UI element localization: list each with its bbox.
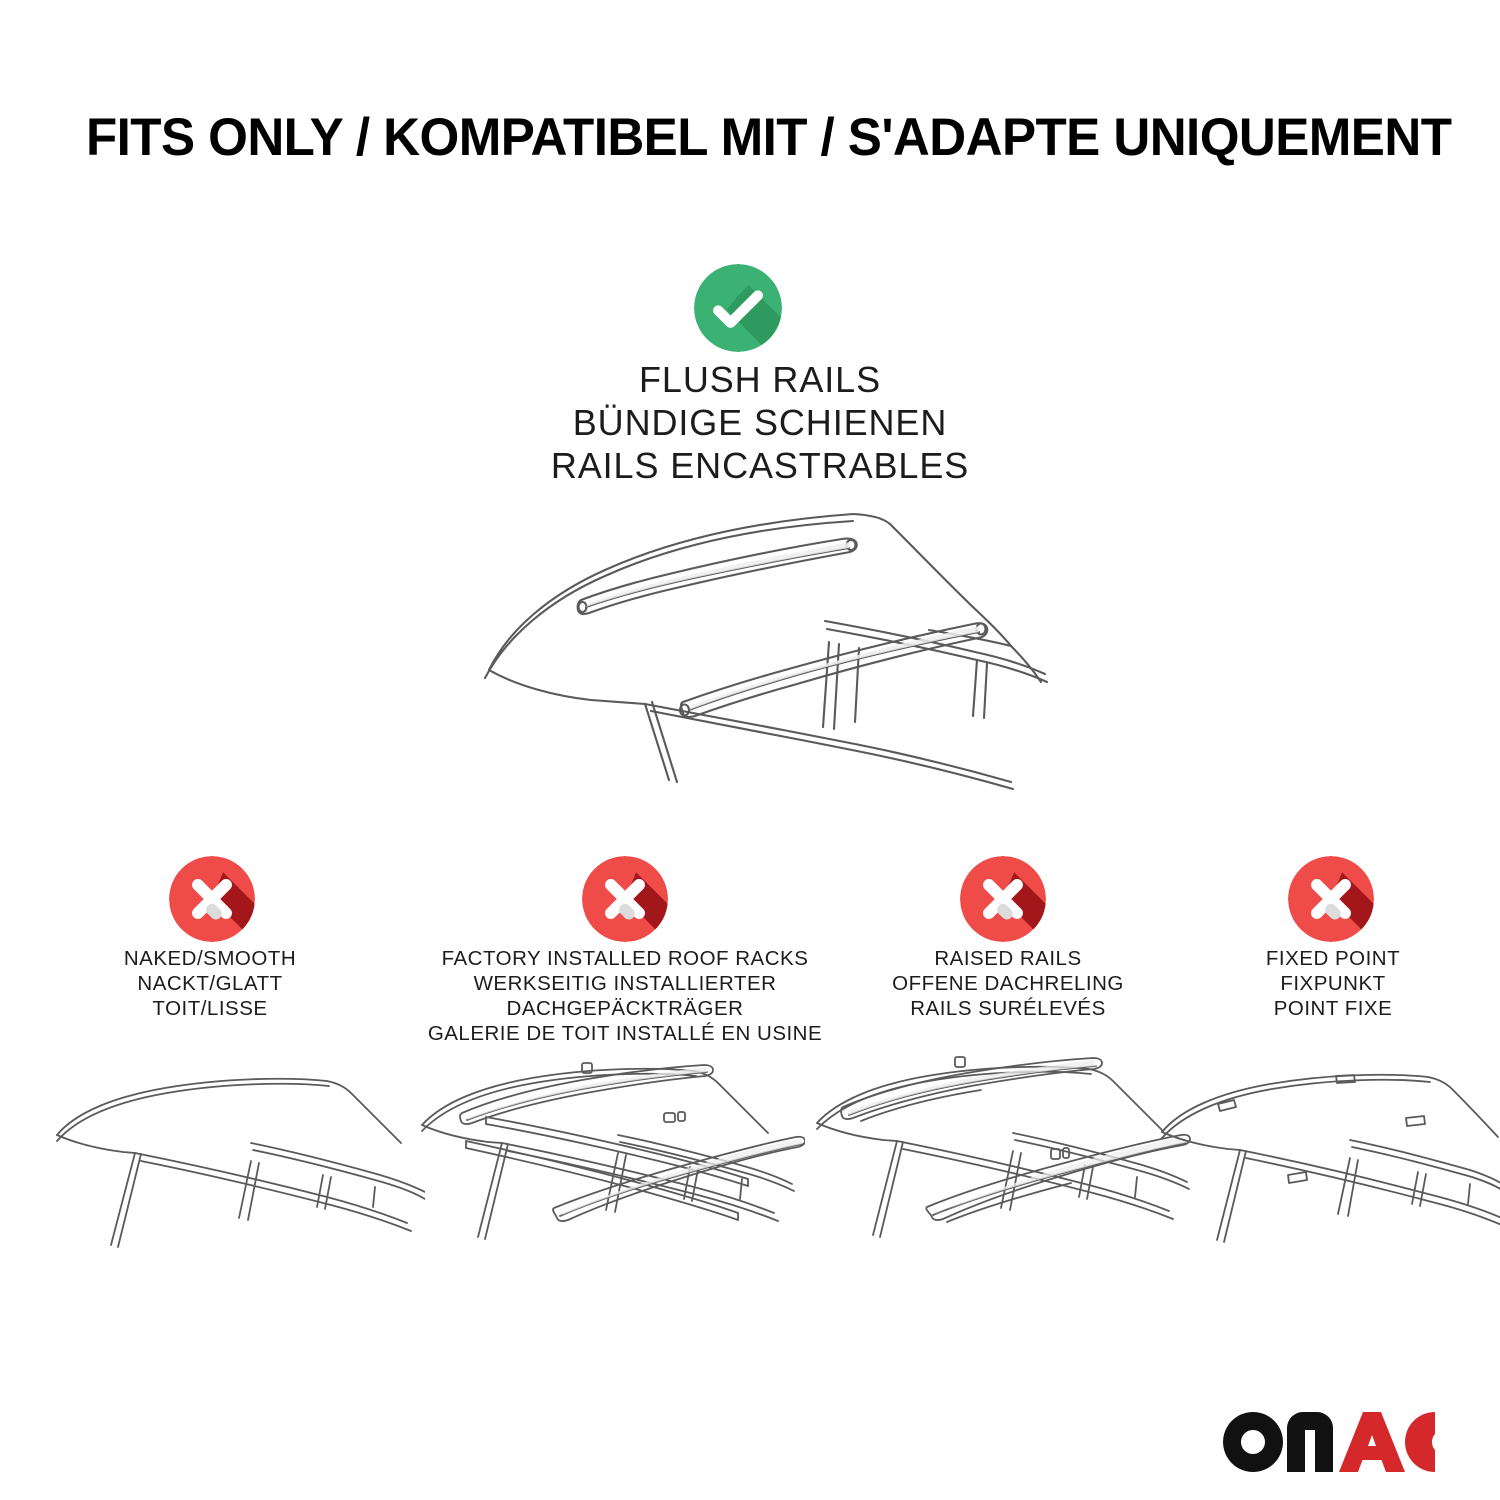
logo-letter-m bbox=[1287, 1412, 1333, 1472]
fitment-infographic: FITS ONLY / KOMPATIBEL MIT / S'ADAPTE UN… bbox=[0, 0, 1500, 1500]
caption-line: RAILS SURÉLEVÉS bbox=[838, 996, 1178, 1021]
logo-letter-a bbox=[1339, 1412, 1405, 1472]
incompatible-caption-fixed-point: FIXED POINT FIXPUNKT POINT FIXE bbox=[1178, 946, 1488, 1021]
car-roof-fixed-points-illustration bbox=[1160, 1050, 1500, 1290]
cross-circle-icon bbox=[960, 856, 1046, 942]
caption-line: POINT FIXE bbox=[1178, 996, 1488, 1021]
incompatible-caption-raised-rails: RAISED RAILS OFFENE DACHRELING RAILS SUR… bbox=[838, 946, 1178, 1021]
caption-line: FLUSH RAILS bbox=[410, 358, 1110, 401]
cross-circle-icon bbox=[169, 856, 255, 942]
caption-line: RAILS ENCASTRABLES bbox=[410, 444, 1110, 487]
incompatible-caption-naked-smooth: NAKED/SMOOTH NACKT/GLATT TOIT/LISSE bbox=[10, 946, 410, 1021]
caption-line: OFFENE DACHRELING bbox=[838, 971, 1178, 996]
caption-line: FACTORY INSTALLED ROOF RACKS bbox=[395, 946, 855, 971]
car-roof-factory-crossbars-illustration bbox=[420, 1045, 805, 1290]
cross-circle-icon bbox=[1288, 856, 1374, 942]
car-roof-naked-smooth-illustration bbox=[55, 1055, 425, 1290]
caption-line: NACKT/GLATT bbox=[10, 971, 410, 996]
caption-line: RAISED RAILS bbox=[838, 946, 1178, 971]
incompatible-caption-factory-roof-racks: FACTORY INSTALLED ROOF RACKS WERKSEITIG … bbox=[395, 946, 855, 1046]
caption-line: FIXPUNKT bbox=[1178, 971, 1488, 996]
caption-line: DACHGEPÄCKTRÄGER bbox=[395, 996, 855, 1021]
caption-line: FIXED POINT bbox=[1178, 946, 1488, 971]
omac-logo bbox=[1223, 1412, 1435, 1472]
caption-line: GALERIE DE TOIT INSTALLÉ EN USINE bbox=[395, 1021, 855, 1046]
caption-line: BÜNDIGE SCHIENEN bbox=[410, 401, 1110, 444]
cross-circle-icon bbox=[582, 856, 668, 942]
page-title: FITS ONLY / KOMPATIBEL MIT / S'ADAPTE UN… bbox=[86, 108, 1379, 168]
caption-line: WERKSEITIG INSTALLIERTER bbox=[395, 971, 855, 996]
compatible-caption: FLUSH RAILS BÜNDIGE SCHIENEN RAILS ENCAS… bbox=[410, 358, 1110, 487]
check-circle-icon bbox=[694, 264, 782, 352]
caption-line: TOIT/LISSE bbox=[10, 996, 410, 1021]
logo-letter-o bbox=[1223, 1412, 1283, 1472]
car-roof-raised-rails-illustration bbox=[815, 1045, 1200, 1290]
car-roof-flush-rails-illustration bbox=[455, 490, 1070, 790]
caption-line: NAKED/SMOOTH bbox=[10, 946, 410, 971]
